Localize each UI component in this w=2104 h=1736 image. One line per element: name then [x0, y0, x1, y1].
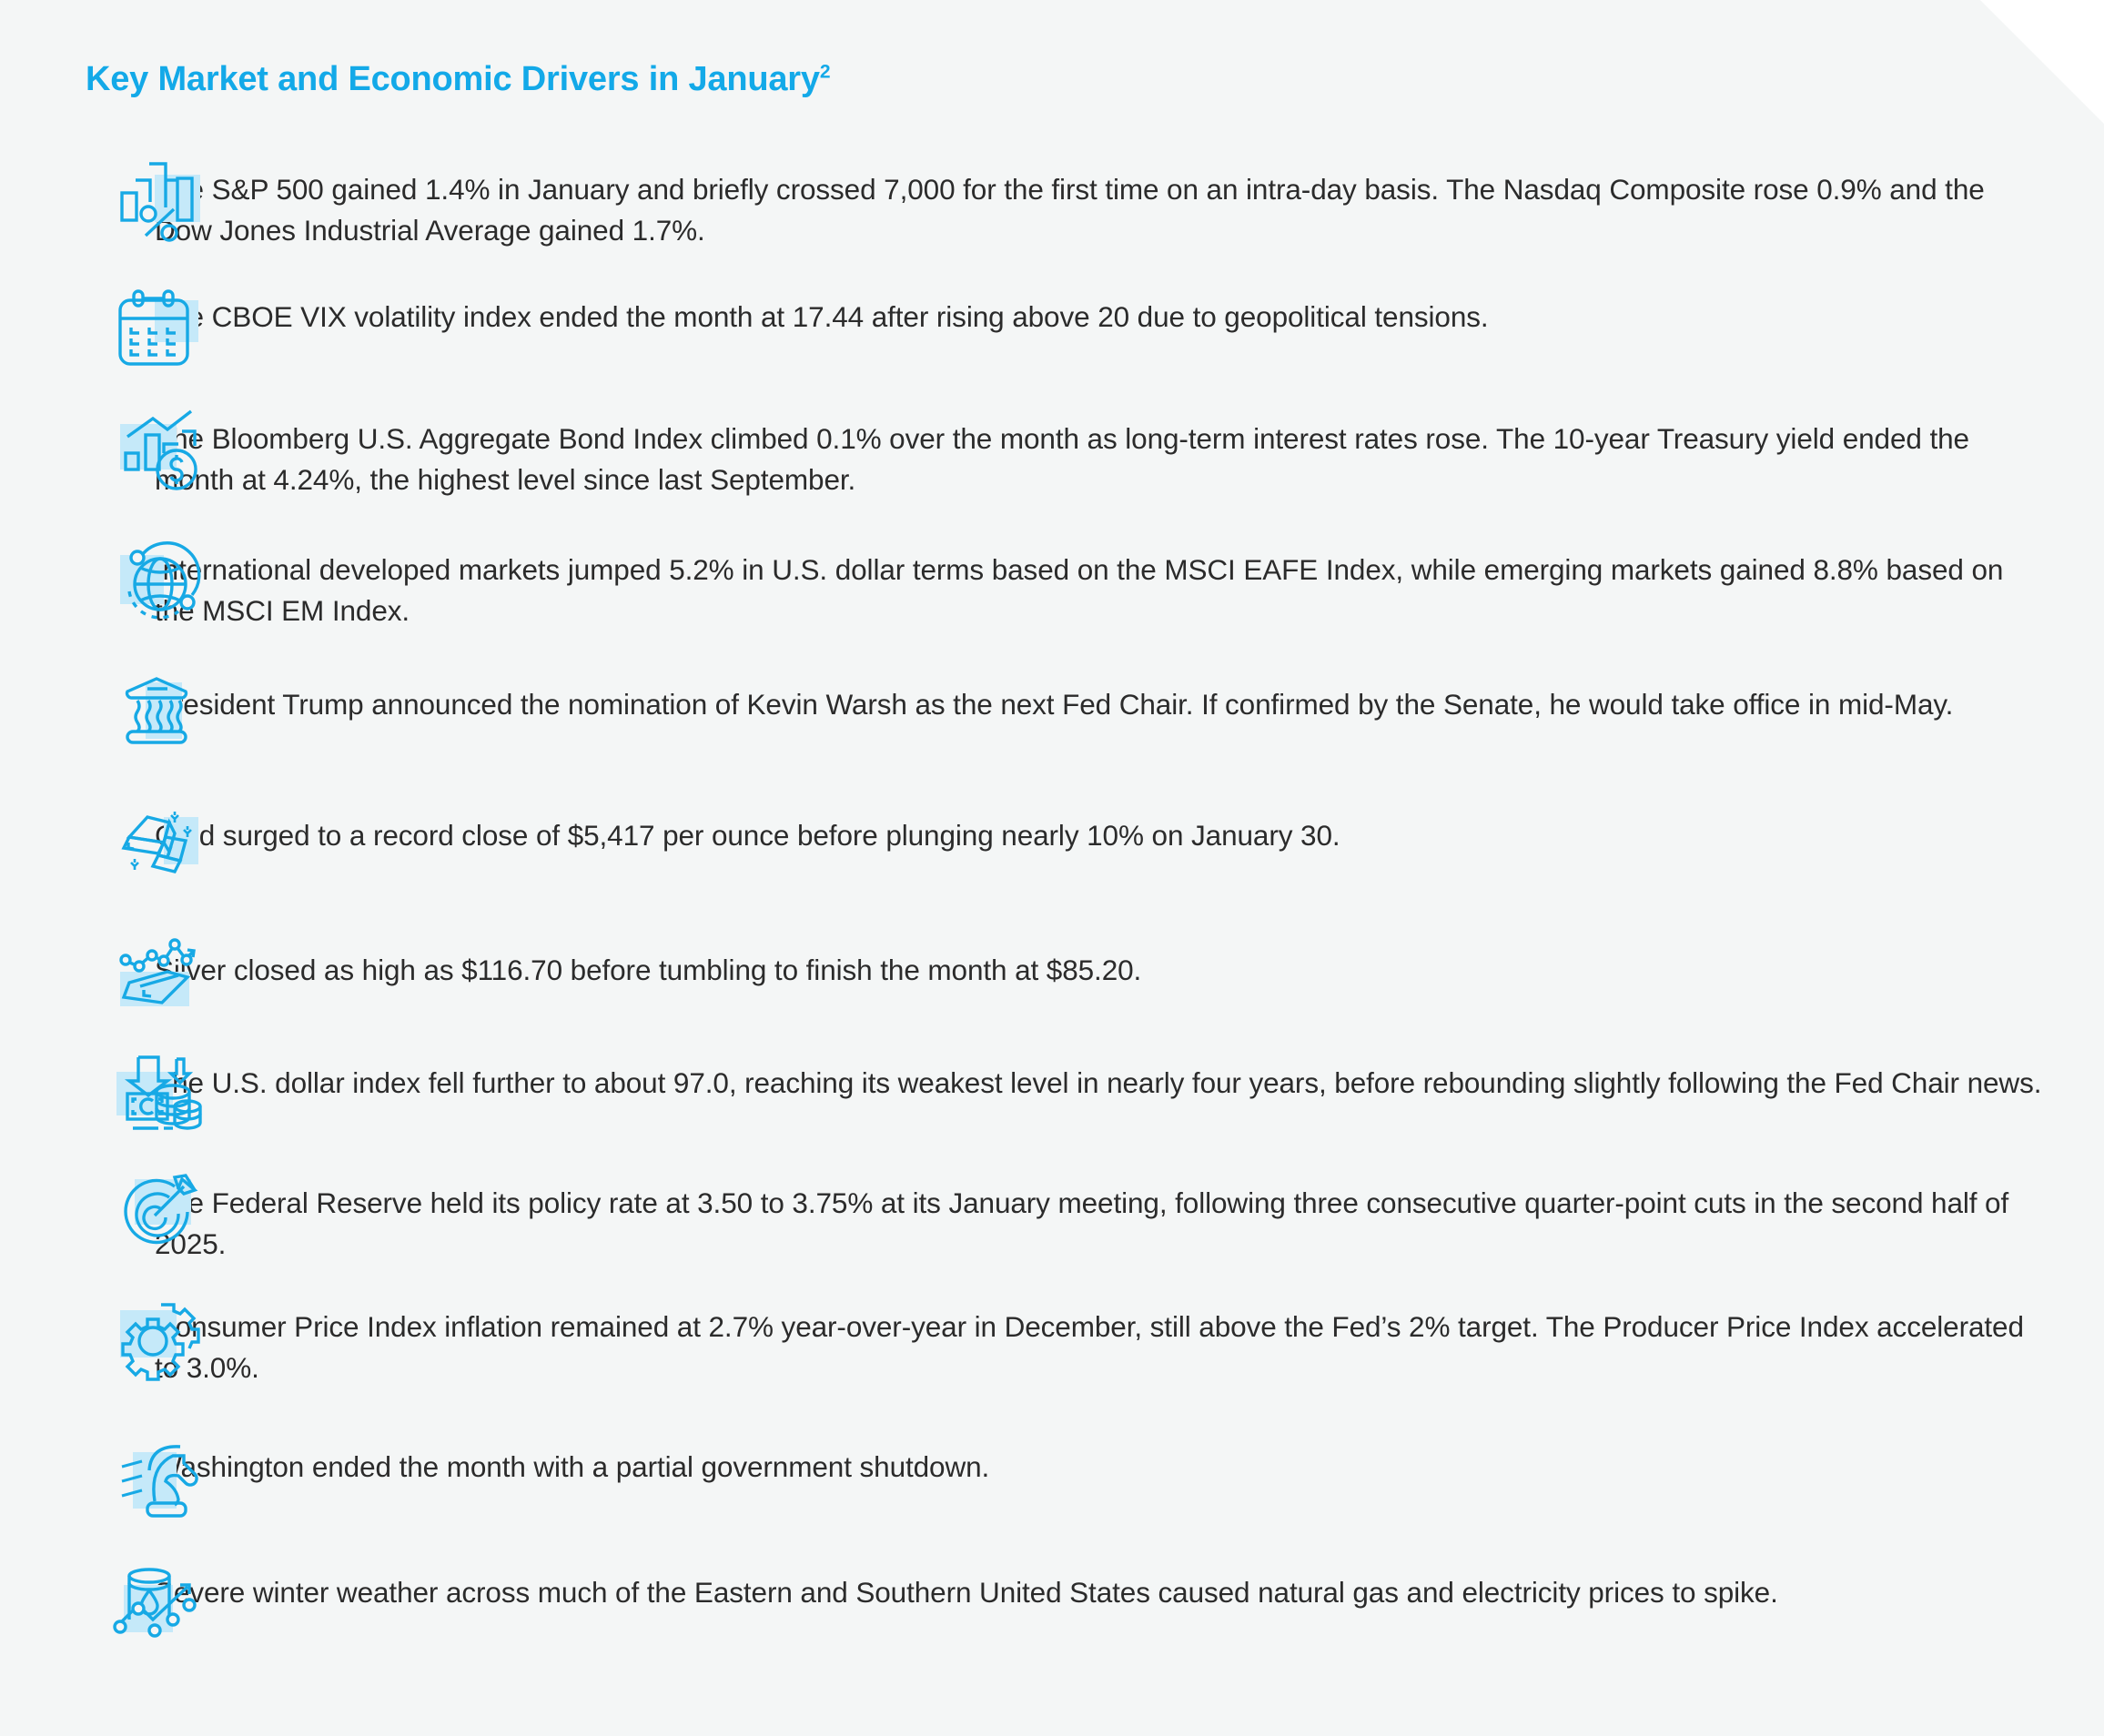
corner-notch-decoration: [1980, 0, 2104, 124]
list-item-text: Gold surged to a record close of $5,417 …: [155, 815, 2049, 856]
list-item-icon-cell: [0, 788, 155, 899]
page-title-text: Key Market and Economic Drivers in Janua…: [86, 60, 820, 98]
list-item-text-cell: The CBOE VIX volatility index ended the …: [155, 277, 2104, 338]
list-item-text-cell: Severe winter weather across much of the…: [155, 1538, 2104, 1613]
list-item-text-cell: The Federal Reserve held its policy rate…: [155, 1163, 2104, 1265]
list-item-icon-cell: [0, 1037, 155, 1145]
gears-icon: [107, 1290, 206, 1388]
silver-bar-chart-icon: [107, 932, 206, 1030]
calendar-icon: [107, 284, 206, 382]
list-item-icon-cell: [0, 1538, 155, 1650]
list-item-text: Consumer Price Index inflation remained …: [155, 1307, 2049, 1388]
list-item-text-cell: The Bloomberg U.S. Aggregate Bond Index …: [155, 402, 2104, 500]
list-item-icon-cell: [0, 1414, 155, 1525]
infographic-page: Key Market and Economic Drivers in Janua…: [0, 0, 2104, 1736]
list-item: The Federal Reserve held its policy rate…: [0, 1163, 2104, 1287]
list-item-icon-cell: [0, 402, 155, 504]
list-item: The CBOE VIX volatility index ended the …: [0, 277, 2104, 402]
list-item-icon-cell: [0, 1163, 155, 1265]
list-item: The Bloomberg U.S. Aggregate Bond Index …: [0, 402, 2104, 526]
list-item-text: Silver closed as high as $116.70 before …: [155, 950, 2049, 991]
oil-barrel-chart-icon: [107, 1552, 206, 1650]
list-item-icon-cell: [0, 153, 155, 253]
list-item-icon-cell: [0, 277, 155, 382]
bar-chart-percent-icon: [107, 155, 206, 253]
list-item: Silver closed as high as $116.70 before …: [0, 912, 2104, 1037]
list-item-icon-cell: [0, 659, 155, 768]
list-item-text: Severe winter weather across much of the…: [155, 1572, 2049, 1613]
list-item-text: Washington ended the month with a partia…: [155, 1447, 2049, 1488]
target-dart-icon: [107, 1166, 206, 1265]
list-item: Severe winter weather across much of the…: [0, 1538, 2104, 1665]
list-item-text: President Trump announced the nomination…: [155, 684, 2049, 725]
bar-chart-dollar-icon: [107, 406, 206, 504]
list-item: Consumer Price Index inflation remained …: [0, 1287, 2104, 1414]
list-item: Washington ended the month with a partia…: [0, 1414, 2104, 1538]
list-item-text-cell: Silver closed as high as $116.70 before …: [155, 912, 2104, 991]
bank-building-icon: [107, 670, 206, 768]
gold-bars-icon: [107, 801, 206, 899]
list-item-text-cell: The U.S. dollar index fell further to ab…: [155, 1037, 2104, 1104]
chess-knight-icon: [107, 1427, 206, 1525]
globe-orbit-icon: [107, 535, 206, 633]
list-item-text: International developed markets jumped 5…: [155, 550, 2049, 631]
page-title: Key Market and Economic Drivers in Janua…: [86, 60, 830, 99]
list-item-text-cell: President Trump announced the nomination…: [155, 659, 2104, 725]
list-item-icon-cell: [0, 526, 155, 633]
list-item-icon-cell: [0, 1287, 155, 1388]
list-item-text: The S&P 500 gained 1.4% in January and b…: [155, 169, 2049, 251]
list-item-text-cell: International developed markets jumped 5…: [155, 526, 2104, 631]
list-item-text-cell: Consumer Price Index inflation remained …: [155, 1287, 2104, 1388]
footnote-marker: 2: [820, 61, 830, 82]
list-item-text-cell: Washington ended the month with a partia…: [155, 1414, 2104, 1488]
list-item-text-cell: The S&P 500 gained 1.4% in January and b…: [155, 153, 2104, 251]
list-item: The S&P 500 gained 1.4% in January and b…: [0, 153, 2104, 277]
drivers-list: The S&P 500 gained 1.4% in January and b…: [0, 153, 2104, 1665]
list-item: The U.S. dollar index fell further to ab…: [0, 1037, 2104, 1163]
list-item-text: The CBOE VIX volatility index ended the …: [155, 297, 2049, 338]
list-item: Gold surged to a record close of $5,417 …: [0, 788, 2104, 912]
list-item-text-cell: Gold surged to a record close of $5,417 …: [155, 788, 2104, 856]
list-item-text: The Federal Reserve held its policy rate…: [155, 1183, 2049, 1265]
list-item: President Trump announced the nomination…: [0, 659, 2104, 788]
currency-decline-icon: [107, 1046, 206, 1145]
list-item: International developed markets jumped 5…: [0, 526, 2104, 659]
list-item-text: The Bloomberg U.S. Aggregate Bond Index …: [155, 419, 2049, 500]
list-item-icon-cell: [0, 912, 155, 1030]
list-item-text: The U.S. dollar index fell further to ab…: [155, 1063, 2049, 1104]
